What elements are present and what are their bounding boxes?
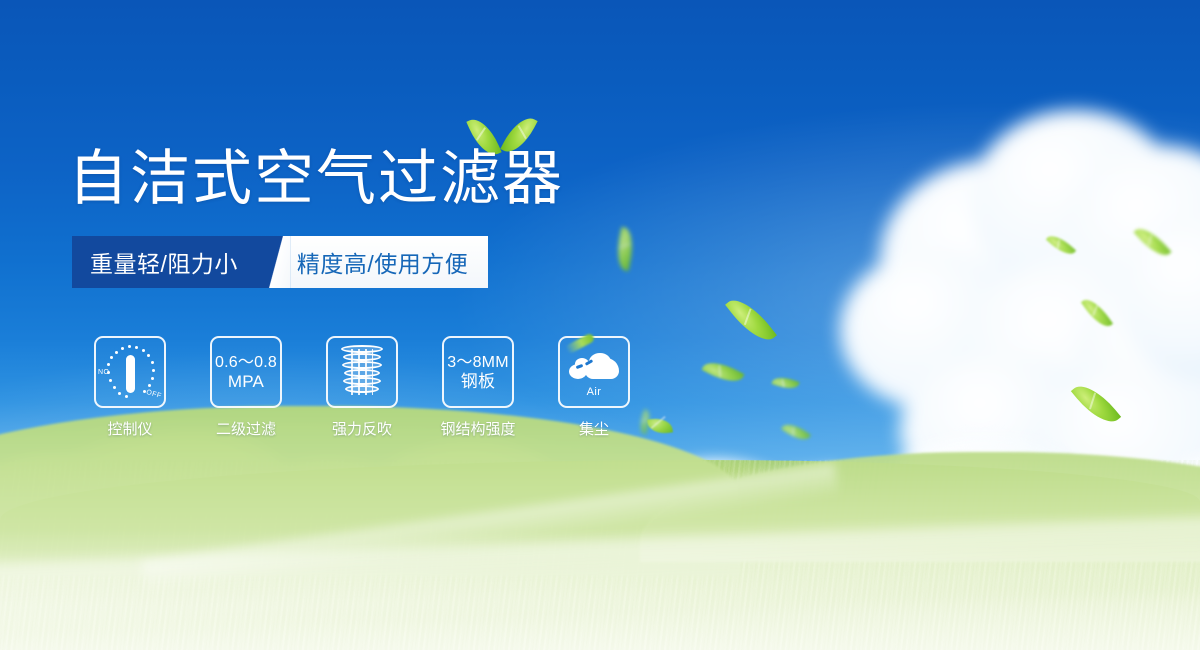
gauge-icon: NO OFF <box>99 343 161 401</box>
feature-list: NO OFF 控制仪 0.6～0.8 MPA 二级过滤 <box>72 336 652 439</box>
tagline-right: 精度高/使用方便 <box>291 236 488 288</box>
tagline-divider <box>265 236 291 288</box>
pressure-unit: MPA <box>228 372 264 392</box>
feature-controller[interactable]: NO OFF 控制仪 <box>72 336 188 439</box>
feature-icon-box: 0.6～0.8 MPA <box>210 336 282 408</box>
feature-icon-box: 3～8MM 钢板 <box>442 336 514 408</box>
feature-label: 钢结构强度 <box>440 418 515 439</box>
product-hero-banner: 自洁式空气过滤器 重量轻/阻力小 精度高/使用方便 <box>0 0 1200 650</box>
feature-label: 强力反吹 <box>332 418 392 439</box>
feature-label: 控制仪 <box>107 418 152 439</box>
gauge-needle <box>126 355 135 393</box>
feature-label: 二级过滤 <box>216 418 276 439</box>
steel-thickness: 3～8MM <box>447 353 508 372</box>
air-label: Air <box>587 386 602 398</box>
feature-icon-box <box>326 336 398 408</box>
feature-pulse-blowback[interactable]: 强力反吹 <box>304 336 420 439</box>
pressure-value: 0.6～0.8 <box>215 353 277 372</box>
tagline-badge: 重量轻/阻力小 精度高/使用方便 <box>72 236 488 288</box>
gauge-label-no: NO <box>98 369 110 376</box>
feature-icon-box: NO OFF <box>94 336 166 408</box>
feature-label: 集尘 <box>579 418 609 439</box>
page-title: 自洁式空气过滤器 <box>68 144 564 214</box>
feature-two-stage-filter[interactable]: 0.6～0.8 MPA 二级过滤 <box>188 336 304 439</box>
tagline-left: 重量轻/阻力小 <box>72 236 266 288</box>
feature-steel-strength[interactable]: 3～8MM 钢板 钢结构强度 <box>420 336 536 439</box>
air-cloud-icon <box>567 345 621 385</box>
feature-icon-box: Air <box>558 336 630 408</box>
steel-material: 钢板 <box>461 372 495 392</box>
coil-icon <box>336 345 388 399</box>
leaf-streak-icon <box>565 332 596 354</box>
feature-dust-collection[interactable]: Air 集尘 <box>536 336 652 439</box>
